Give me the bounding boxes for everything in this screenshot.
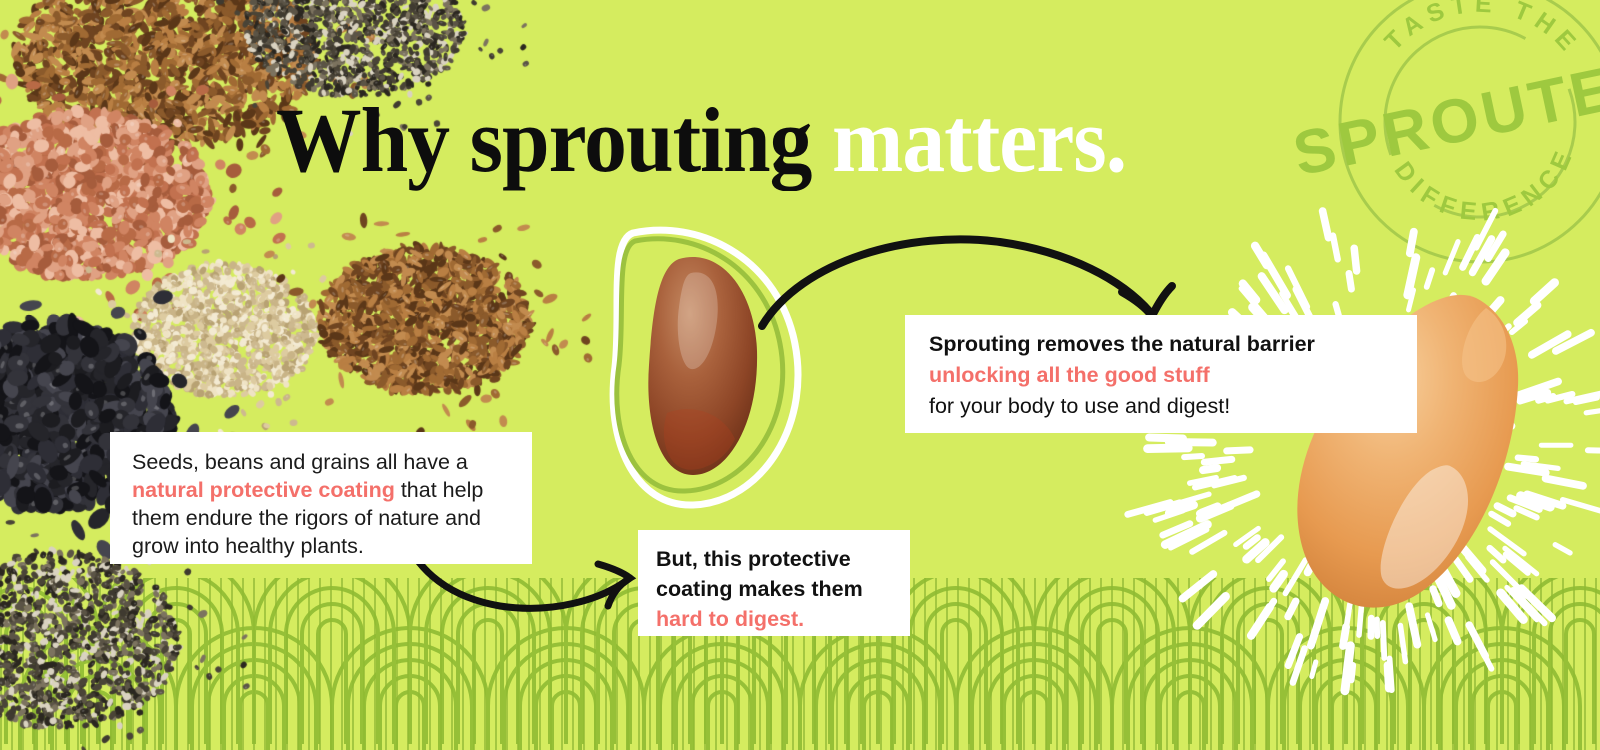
callout-middle-text: But, this protective coating makes them … <box>656 544 910 634</box>
callout-left-line-1: Seeds, beans and grains all have a <box>132 448 510 476</box>
callout-right-text: Sprouting removes the natural barrier un… <box>929 329 1417 422</box>
callout-left-line-4: grow into healthy plants. <box>132 532 510 560</box>
callout-left-line-2-rest: that help <box>395 478 483 502</box>
callout-right: Sprouting removes the natural barrier un… <box>905 315 1417 433</box>
page-title-dark: Why sprouting <box>276 89 812 191</box>
callout-left: Seeds, beans and grains all have a natur… <box>110 432 532 564</box>
callout-right-line-2: unlocking all the good stuff <box>929 360 1417 391</box>
callout-left-line-2: natural protective coating that help <box>132 476 510 504</box>
callout-right-line-1: Sprouting removes the natural barrier <box>929 329 1417 360</box>
infographic-canvas: TASTE THE DIFFERENCE SPROUTED Why sprout… <box>0 0 1600 750</box>
callout-middle-line-3: hard to digest. <box>656 604 910 634</box>
page-title: Why sprouting matters. <box>276 94 1126 186</box>
callout-left-highlight: natural protective coating <box>132 478 395 502</box>
callout-middle-line-2: coating makes them <box>656 574 910 604</box>
callout-middle-line-1: But, this protective <box>656 544 910 574</box>
callout-middle: But, this protective coating makes them … <box>638 530 910 636</box>
callout-left-text: Seeds, beans and grains all have a natur… <box>132 448 510 560</box>
page-title-light: matters. <box>832 89 1126 191</box>
callout-right-line-3: for your body to use and digest! <box>929 391 1417 422</box>
callout-left-line-3: them endure the rigors of nature and <box>132 504 510 532</box>
